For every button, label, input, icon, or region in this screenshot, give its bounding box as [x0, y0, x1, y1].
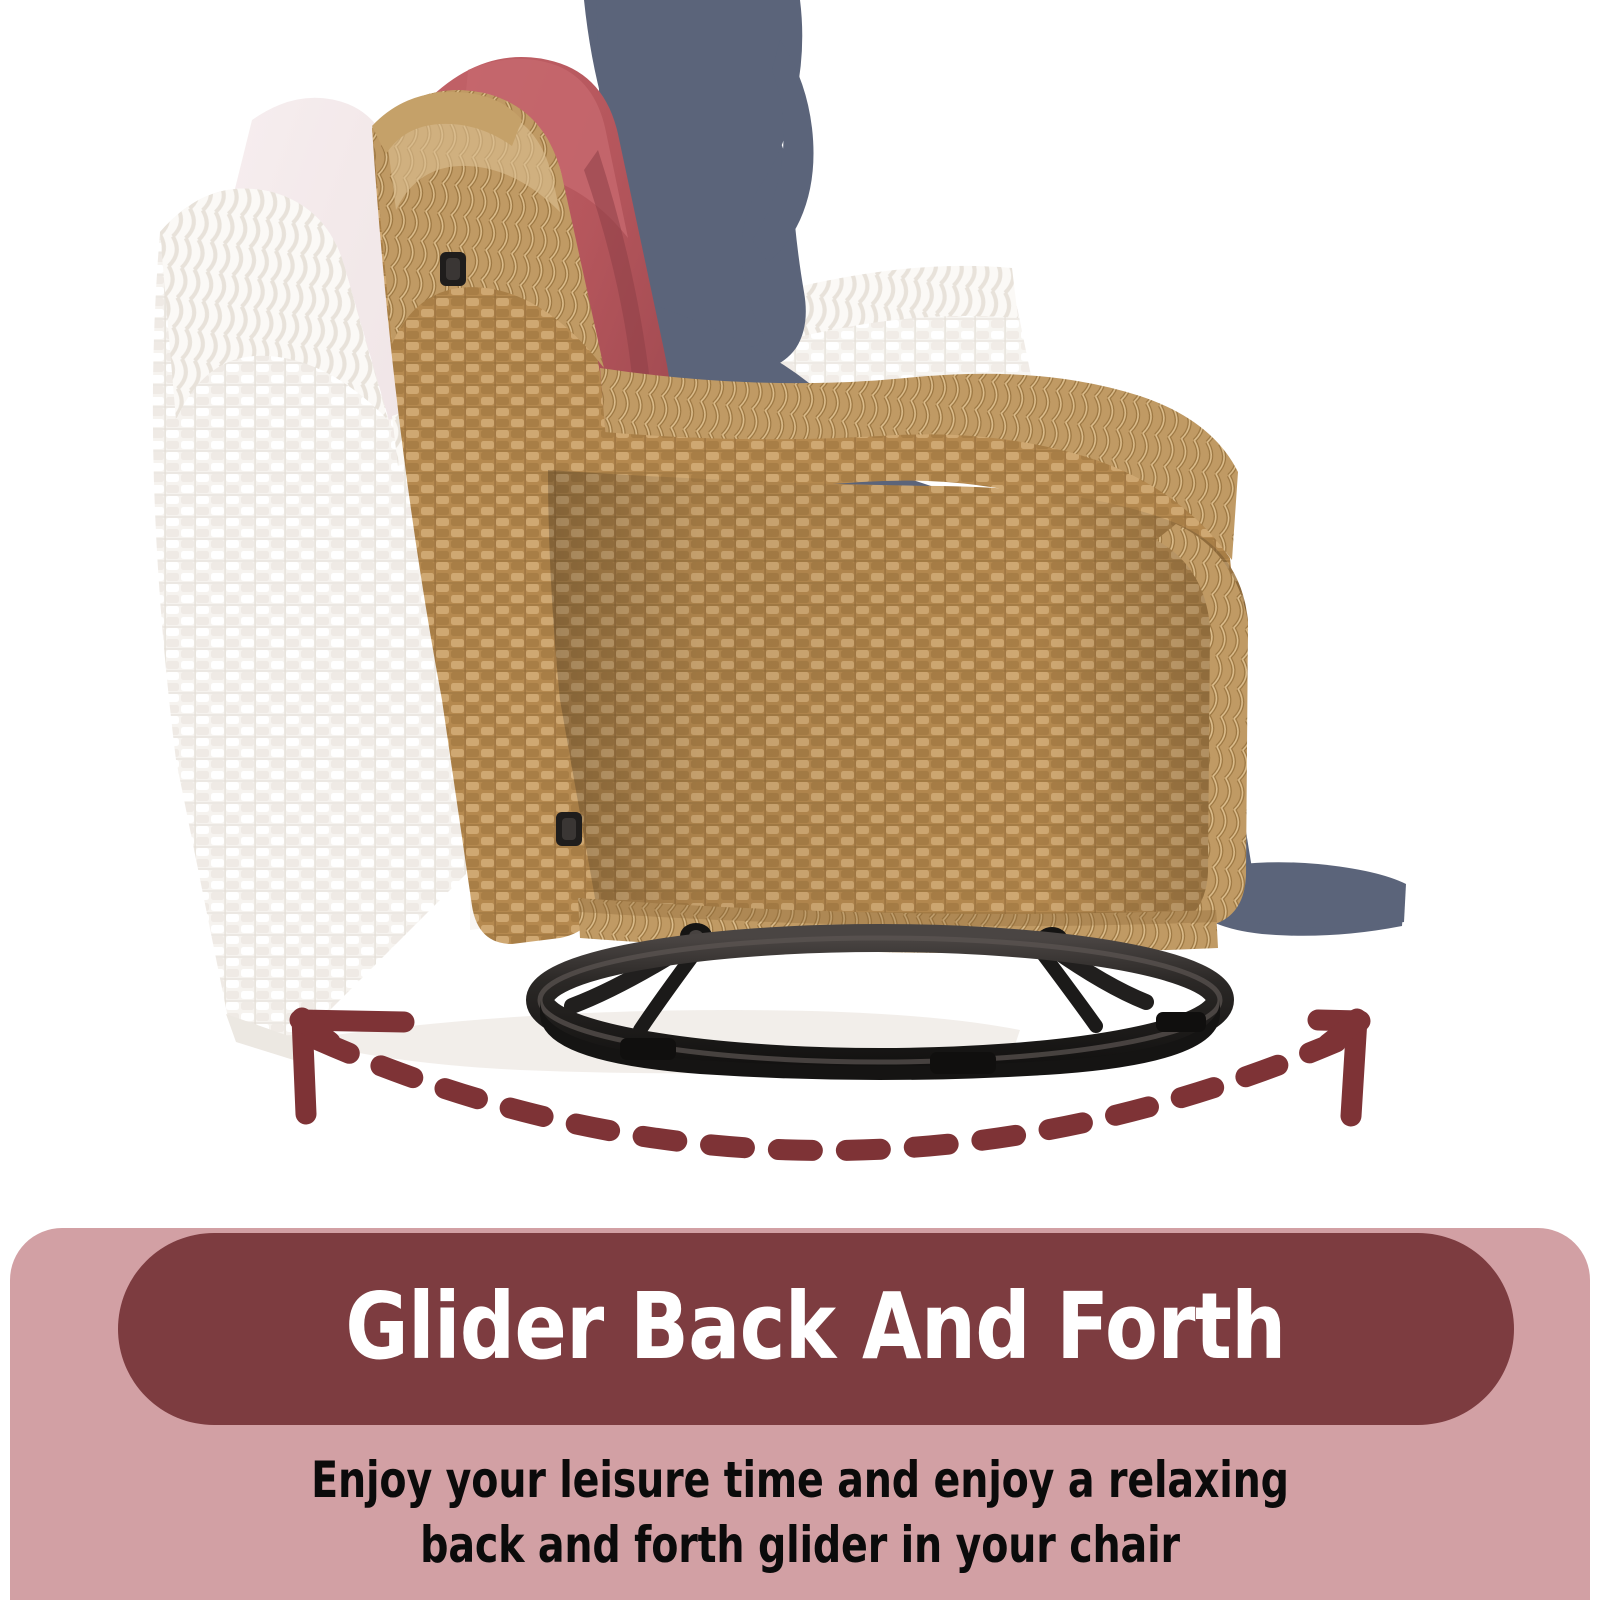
title-pill: Glider Back And Forth: [118, 1233, 1514, 1425]
subtitle-block: Enjoy your leisure time and enjoy a rela…: [96, 1448, 1504, 1578]
main-wicker-chair: [372, 57, 1248, 1080]
subtitle-line-2: back and forth glider in your chair: [96, 1513, 1504, 1578]
subtitle-line-1: Enjoy your leisure time and enjoy a rela…: [311, 1451, 1289, 1509]
swivel-base: [540, 938, 1220, 1080]
product-feature-graphic: Glider Back And Forth Enjoy your leisure…: [0, 0, 1600, 1600]
glide-right-arrow: [1318, 1019, 1360, 1116]
page-title: Glider Back And Forth: [346, 1281, 1286, 1373]
